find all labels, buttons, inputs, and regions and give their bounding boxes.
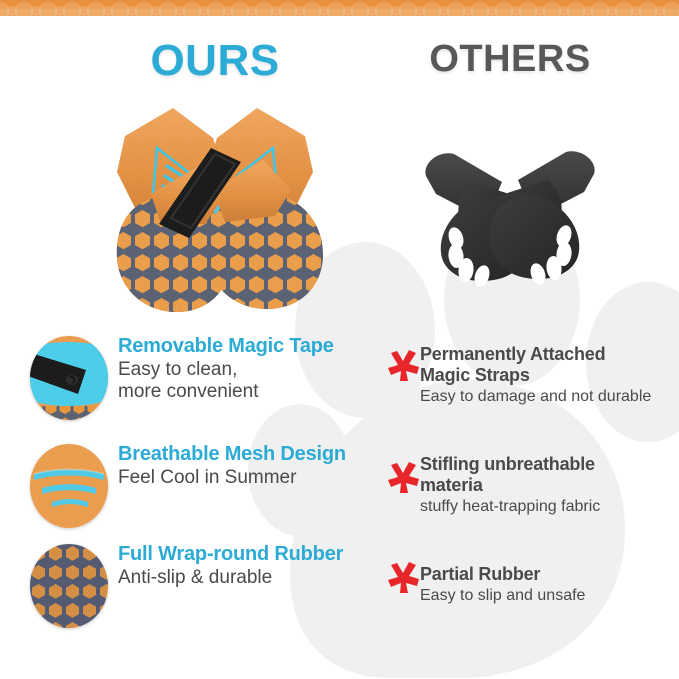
others-title-line1: Permanently Attached	[420, 344, 678, 365]
ours-feature-title: Removable Magic Tape	[118, 334, 388, 358]
top-orange-banner	[0, 0, 679, 16]
ours-feature-title: Full Wrap-round Rubber	[118, 542, 388, 566]
others-feature-title: Permanently Attached Magic Straps	[420, 344, 678, 386]
others-title-line1: Stifling unbreathable	[420, 454, 678, 475]
infographic-root: OURS OTHERS	[0, 0, 679, 679]
ours-feature-subtitle: Feel Cool in Summer	[118, 467, 388, 489]
others-title-line2: Magic Straps	[420, 365, 678, 386]
red-x-icon	[386, 462, 420, 494]
ours-feature-text: Removable Magic Tape Easy to clean, more…	[118, 334, 388, 403]
others-title-line1: Partial Rubber	[420, 564, 678, 585]
banner-band	[0, 9, 679, 16]
feature-row: Removable Magic Tape Easy to clean, more…	[0, 332, 679, 430]
others-feature-text: Stifling unbreathable materia stuffy hea…	[420, 454, 678, 516]
ours-subtitle-line2: more convenient	[118, 381, 388, 403]
others-header: OTHERS	[395, 38, 625, 81]
ours-product-image	[95, 98, 335, 323]
feature-row: Full Wrap-round Rubber Anti-slip & durab…	[0, 540, 679, 636]
others-feature-title: Partial Rubber	[420, 564, 678, 585]
others-feature-title: Stifling unbreathable materia	[420, 454, 678, 496]
ours-header: OURS	[0, 36, 430, 86]
ours-feature-text: Breathable Mesh Design Feel Cool in Summ…	[118, 442, 388, 489]
red-x-icon	[386, 562, 420, 594]
ours-subtitle-line1: Feel Cool in Summer	[118, 467, 388, 489]
ours-subtitle-line1: Easy to clean,	[118, 359, 388, 381]
ours-subtitle-line1: Anti-slip & durable	[118, 567, 388, 589]
red-x-icon	[386, 350, 420, 382]
others-title-line2: materia	[420, 475, 678, 496]
ours-feature-text: Full Wrap-round Rubber Anti-slip & durab…	[118, 542, 388, 589]
others-feature-subtitle: stuffy heat-trapping fabric	[420, 497, 678, 516]
thumb-velcro-strap-closeup	[30, 336, 108, 420]
ours-feature-title: Breathable Mesh Design	[118, 442, 388, 466]
feature-row: Breathable Mesh Design Feel Cool in Summ…	[0, 440, 679, 536]
others-feature-text: Partial Rubber Easy to slip and unsafe	[420, 564, 678, 605]
others-feature-text: Permanently Attached Magic Straps Easy t…	[420, 344, 678, 406]
others-product-image	[410, 128, 610, 288]
thumb-breathable-mesh-closeup	[30, 444, 108, 528]
ours-feature-subtitle: Easy to clean, more convenient	[118, 359, 388, 403]
thumb-honeycomb-rubber-sole-closeup	[30, 544, 108, 628]
others-feature-subtitle: Easy to damage and not durable	[420, 387, 678, 406]
ours-feature-subtitle: Anti-slip & durable	[118, 567, 388, 589]
others-feature-subtitle: Easy to slip and unsafe	[420, 586, 678, 605]
